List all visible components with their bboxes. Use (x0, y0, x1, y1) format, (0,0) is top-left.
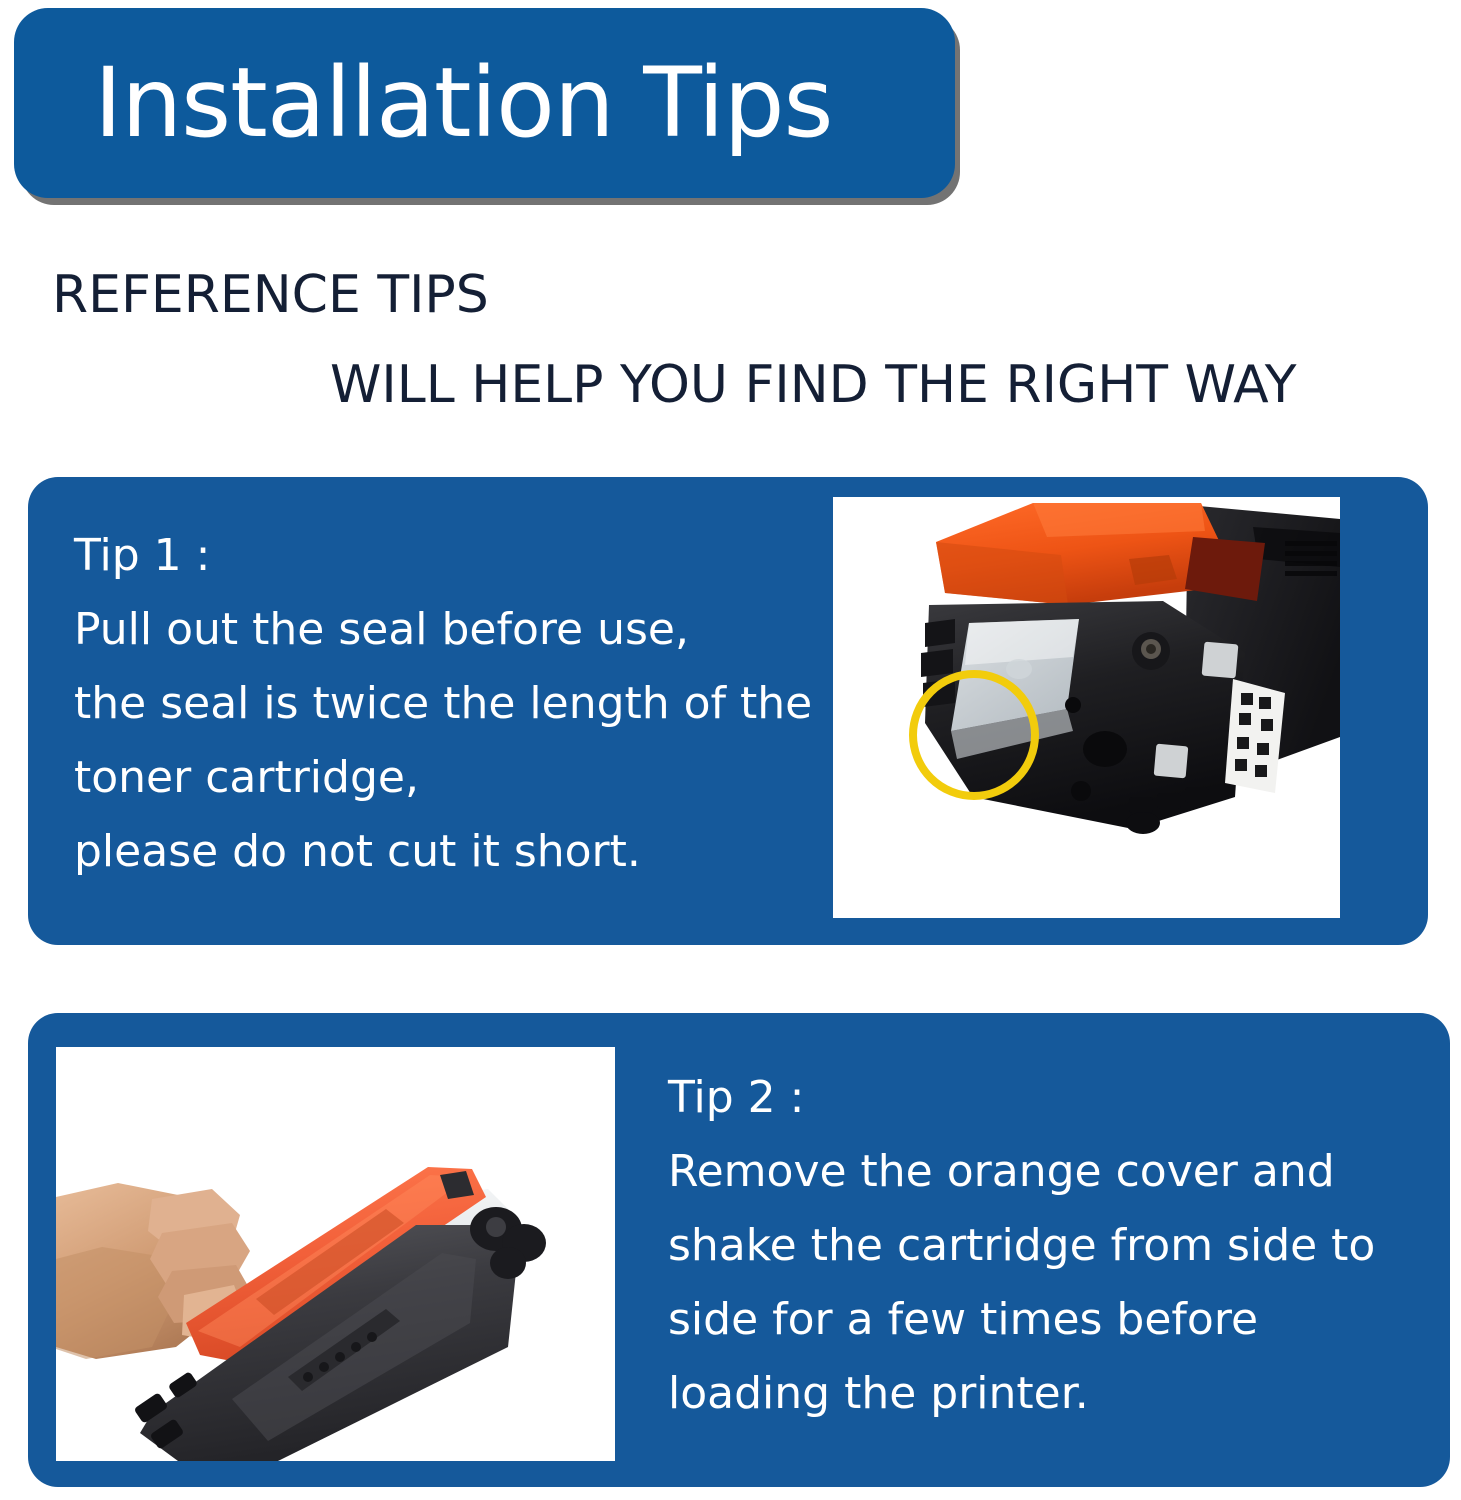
tip-1-body-line-2: the seal is twice the length of the (74, 667, 812, 741)
toner-cartridge-seal-illustration (833, 497, 1340, 918)
subheading-line-2: WILL HELP YOU FIND THE RIGHT WAY (330, 355, 1296, 415)
hand-holding-cartridge-illustration (56, 1047, 615, 1461)
page-title: Installation Tips (94, 55, 833, 151)
subheading-line-1: REFERENCE TIPS (52, 265, 489, 325)
tip-2-body-line-4: loading the printer. (668, 1357, 1375, 1431)
tip-1-body-line-1: Pull out the seal before use, (74, 593, 812, 667)
tip-2-label: Tip 2 : (668, 1061, 1375, 1135)
hand-holding-cartridge-photo (56, 1047, 615, 1461)
tip-2-body-line-2: shake the cartridge from side to (668, 1209, 1375, 1283)
tip-1-label: Tip 1 : (74, 519, 812, 593)
tip-card-2: Tip 2 : Remove the orange cover and shak… (28, 1013, 1450, 1487)
tip-1-body-line-4: please do not cut it short. (74, 815, 812, 889)
toner-cartridge-seal-photo (833, 497, 1340, 918)
tip-2-text-block: Tip 2 : Remove the orange cover and shak… (668, 1061, 1375, 1431)
tip-1-body-line-3: toner cartridge, (74, 741, 812, 815)
subheading-block: REFERENCE TIPS WILL HELP YOU FIND THE RI… (0, 255, 1461, 435)
tip-1-text-block: Tip 1 : Pull out the seal before use, th… (74, 519, 812, 889)
header-banner: Installation Tips (14, 8, 955, 198)
tip-card-1: Tip 1 : Pull out the seal before use, th… (28, 477, 1428, 945)
tip-2-body-line-3: side for a few times before (668, 1283, 1375, 1357)
tip-2-body-line-1: Remove the orange cover and (668, 1135, 1375, 1209)
